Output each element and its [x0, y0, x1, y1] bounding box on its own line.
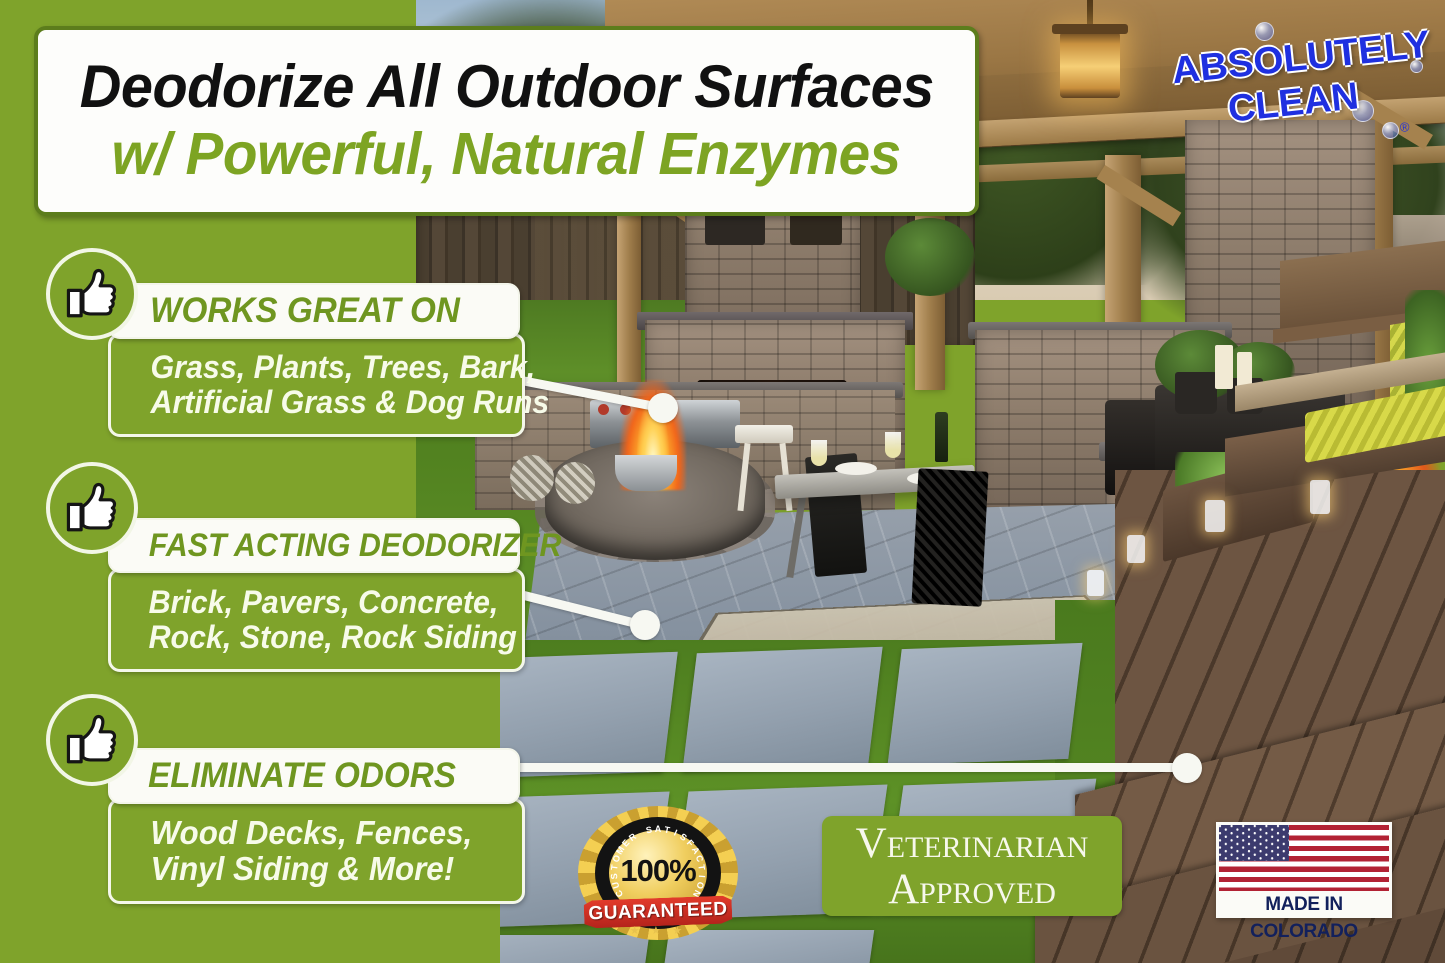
registered-trademark-icon: ® — [1399, 119, 1410, 135]
callout-1-heading: WORKS GREAT ON — [108, 283, 520, 339]
callout-2-body: Brick, Pavers, Concrete, Rock, Stone, Ro… — [108, 568, 525, 672]
made-in-colorado-badge: MADE IN COLORADO — [1216, 822, 1392, 918]
origin-label: MADE IN COLORADO — [1219, 891, 1389, 945]
wine-glass — [885, 432, 901, 458]
candle-lantern — [1127, 535, 1145, 563]
candle-lantern — [1310, 480, 1330, 514]
guarantee-stars-icon: ★ ★ ★ — [578, 924, 738, 937]
guarantee-percent: 100% — [578, 853, 738, 889]
bar-stool — [735, 425, 793, 443]
decorative-lantern — [510, 455, 554, 501]
callout-3-body: Wood Decks, Fences, Vinyl Siding & More! — [108, 798, 525, 904]
headline-primary: Deodorize All Outdoor Surfaces — [79, 56, 933, 117]
headline-banner: Deodorize All Outdoor Surfaces w/ Powerf… — [34, 26, 979, 216]
stepping-stone — [682, 647, 882, 771]
brand-logo: ABSOLUTELY CLEAN ® — [1172, 28, 1413, 171]
product-infographic: Deodorize All Outdoor Surfaces w/ Powerf… — [0, 0, 1445, 963]
wine-bottle — [935, 412, 948, 462]
leader-dot-2 — [630, 610, 660, 640]
leader-dot-3 — [1172, 753, 1202, 783]
ice-bucket — [615, 455, 677, 491]
pillar-candle — [1215, 345, 1233, 389]
thumbs-up-icon — [46, 694, 138, 786]
leader-line-3 — [470, 763, 1190, 772]
thumbs-up-icon — [46, 462, 138, 554]
vet-badge-line2: Approved — [888, 868, 1056, 911]
leader-dot-1 — [648, 393, 678, 423]
flag-canton — [1219, 825, 1289, 861]
stepping-stone — [887, 643, 1082, 765]
candle-lantern — [1087, 570, 1104, 596]
wine-glass — [811, 440, 827, 466]
flag-stars — [1219, 825, 1289, 861]
dining-chair — [912, 468, 989, 606]
dinner-plate — [835, 462, 877, 475]
bubble-icon — [1255, 22, 1274, 41]
usa-flag-icon — [1219, 825, 1389, 891]
callout-3-heading: ELIMINATE ODORS — [108, 748, 520, 804]
satisfaction-guarantee-badge: CUSTOMER SATISFACTION 100% GUARANTEED ★ … — [578, 806, 738, 940]
decorative-lantern — [555, 462, 595, 504]
planter-pot — [1175, 372, 1217, 414]
candle-lantern — [1205, 500, 1225, 532]
veterinarian-approved-badge: Veterinarian Approved — [822, 816, 1122, 916]
shrub — [885, 218, 975, 296]
callout-2-heading: FAST ACTING DEODORIZER — [108, 518, 520, 573]
hanging-lantern — [1060, 32, 1120, 98]
headline-secondary: w/ Powerful, Natural Enzymes — [112, 124, 901, 186]
thumbs-up-icon — [46, 248, 138, 340]
callout-1-body: Grass, Plants, Trees, Bark, Artificial G… — [108, 333, 525, 437]
vet-badge-line1: Veterinarian — [856, 822, 1089, 865]
